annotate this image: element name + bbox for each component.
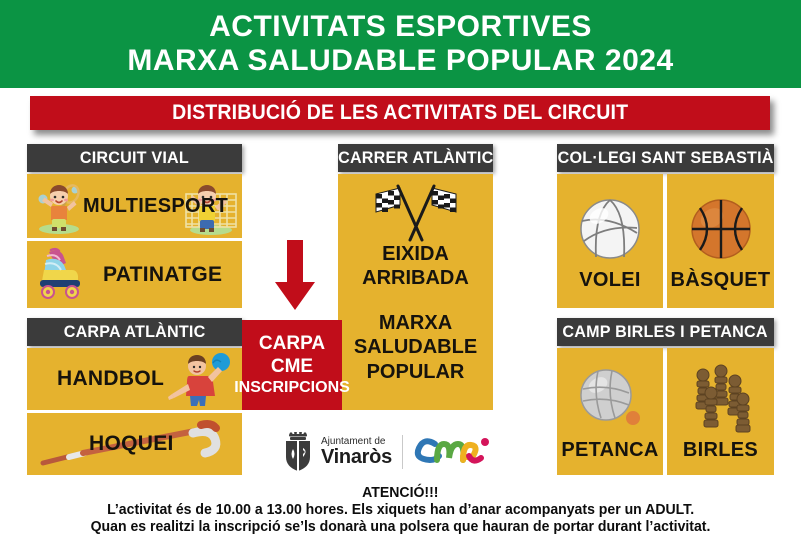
vinaros-logo-line-2: Vinaròs bbox=[321, 447, 392, 467]
carrer-text-arribada: ARRIBADA bbox=[362, 266, 469, 290]
footer-notice: ATENCIÓ!!! L’activitat és de 10.00 a 13.… bbox=[0, 485, 801, 535]
subtitle-banner: DISTRIBUCIÓ DE LES ACTIVITATS DEL CIRCUI… bbox=[30, 96, 770, 130]
footer-line-3: Quan es realitzi la inscripció se’ls don… bbox=[91, 519, 711, 535]
logo-divider bbox=[402, 435, 403, 469]
carpa-line-2: CME bbox=[271, 356, 313, 378]
section-body-carrer-atlantic: EIXIDA ARRIBADA MARXA SALUDABLE POPULAR bbox=[338, 174, 493, 410]
activity-cell-birles: BIRLES bbox=[667, 348, 774, 475]
subtitle-text: DISTRIBUCIÓ DE LES ACTIVITATS DEL CIRCUI… bbox=[172, 101, 628, 125]
activity-label-hoquei: HOQUEI bbox=[89, 432, 174, 456]
skittles-icon bbox=[683, 361, 759, 437]
carrer-text-saludable: SALUDABLE bbox=[354, 335, 477, 359]
page-header-banner: ACTIVITATS ESPORTIVES MARXA SALUDABLE PO… bbox=[0, 0, 801, 88]
activity-label-patinatge: PATINATGE bbox=[103, 263, 222, 287]
activity-cell-petanca: PETANCA bbox=[557, 348, 663, 475]
section-heading-carrer-atlantic: CARRER ATLÀNTIC bbox=[338, 144, 493, 172]
activity-label-petanca: PETANCA bbox=[561, 439, 658, 462]
section-heading-carpa-atlantic: CARPA ATLÀNTIC bbox=[27, 318, 242, 346]
activity-label-handbol: HANDBOL bbox=[57, 367, 164, 391]
footer-line-2: L’activitat és de 10.00 a 13.00 hores. E… bbox=[107, 502, 694, 518]
vinaros-logo: Ajuntament de Vinaròs bbox=[282, 432, 392, 472]
section-heading-label: CARPA ATLÀNTIC bbox=[64, 322, 206, 342]
activity-cell-volei: VOLEI bbox=[557, 174, 663, 308]
activity-label-volei: VOLEI bbox=[579, 269, 641, 292]
page-title-line-2: MARXA SALUDABLE POPULAR 2024 bbox=[127, 45, 673, 77]
handball-player-icon bbox=[164, 350, 238, 408]
section-heading-label: CAMP BIRLES I PETANCA bbox=[563, 322, 768, 342]
activity-label-multiesport: MULTIESPORT bbox=[83, 195, 228, 218]
activity-cell-basquet: BÀSQUET bbox=[667, 174, 774, 308]
activity-row-multiesport: MULTIESPORT bbox=[27, 174, 242, 238]
basketball-icon bbox=[683, 191, 759, 267]
carrer-text-marxa: MARXA bbox=[379, 311, 452, 335]
arrow-down-icon bbox=[271, 240, 319, 312]
activity-row-patinatge: PATINATGE bbox=[27, 241, 242, 308]
child-racket-icon bbox=[31, 178, 87, 234]
activity-label-birles: BIRLES bbox=[683, 439, 758, 462]
carpa-line-1: CARPA bbox=[259, 333, 325, 355]
activity-row-handbol: HANDBOL bbox=[27, 348, 242, 410]
vinaros-coat-of-arms-icon bbox=[282, 432, 314, 472]
petanque-ball-icon bbox=[572, 361, 648, 437]
carrer-text-popular: POPULAR bbox=[367, 360, 465, 384]
volleyball-icon bbox=[572, 191, 648, 267]
section-heading-collegi-sant-sebastia: COL·LEGI SANT SEBASTIÀ bbox=[557, 144, 774, 172]
section-heading-camp-birles-petanca: CAMP BIRLES I PETANCA bbox=[557, 318, 774, 346]
carpa-cme-inscriptions-box: CARPA CME INSCRIPCIONS bbox=[242, 320, 342, 410]
section-heading-label: CARRER ATLÀNTIC bbox=[338, 148, 493, 168]
footer-line-1: ATENCIÓ!!! bbox=[362, 485, 438, 501]
activity-row-hoquei: HOQUEI bbox=[27, 413, 242, 475]
cme-logo-icon bbox=[413, 432, 491, 472]
carpa-line-3: INSCRIPCIONS bbox=[234, 379, 350, 397]
logo-strip: Ajuntament de Vinaròs bbox=[282, 428, 510, 476]
section-heading-circuit-vial: CIRCUIT VIAL bbox=[27, 144, 242, 172]
section-heading-label: CIRCUIT VIAL bbox=[80, 148, 189, 168]
roller-skate-icon bbox=[33, 246, 95, 304]
carrer-text-eixida: EIXIDA bbox=[382, 242, 449, 266]
page-title-line-1: ACTIVITATS ESPORTIVES bbox=[209, 11, 592, 43]
checkered-flags-icon bbox=[360, 180, 472, 242]
section-heading-label: COL·LEGI SANT SEBASTIÀ bbox=[558, 148, 774, 168]
activity-label-basquet: BÀSQUET bbox=[671, 269, 771, 292]
